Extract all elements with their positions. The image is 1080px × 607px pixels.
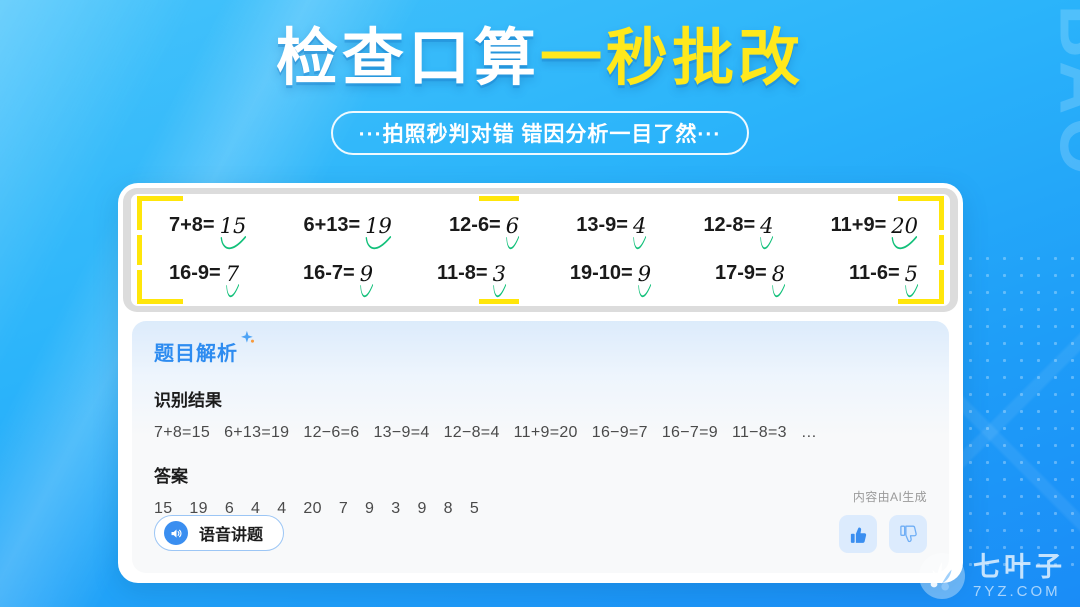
sparkle-icon [237,330,255,348]
answer-value: 9 [365,500,374,518]
handwritten-answer-wrap: 9 [360,262,373,287]
page-title: 检查口算一秒批改 [0,24,1080,93]
correct-check-icon [493,285,506,298]
handwritten-answer: 3 [493,262,506,286]
rating-controls [839,515,927,553]
subtitle-pill: ···拍照秒判对错 错因分析一目了然··· [331,111,750,155]
answer-value: 5 [470,500,479,518]
recognition-item: 11−8=3 [732,424,787,441]
problem-rows: 7+8=156+13=1912-6=613-9=412-8=411+9=2016… [155,202,932,298]
recognition-item: 12−8=4 [444,424,500,441]
bracket-bottom-right-h [898,299,944,304]
recognition-item: … [801,424,817,441]
problem-expression: 11-6= [849,262,900,285]
problem-expression: 16-7= [303,262,355,285]
bracket-bottom-right-v [939,270,944,304]
recognition-item: 6+13=19 [224,424,289,441]
thumbs-up-button[interactable] [839,515,877,553]
answer-label: 答案 [154,462,927,487]
correct-check-icon [226,285,239,298]
app-card: 7+8=156+13=1912-6=613-9=412-8=411+9=2016… [118,183,963,583]
brand-text: 七叶子 7YZ.COM [973,554,1066,599]
answer-value: 20 [303,500,321,518]
analysis-title: 题目解析 [154,337,238,366]
handwritten-answer-wrap: 8 [772,262,785,287]
problem-expression: 16-9= [169,262,221,285]
handwritten-answer: 4 [760,214,773,238]
brand-name-en: 7YZ.COM [973,584,1066,599]
problem-expression: 11+9= [831,214,887,237]
correct-check-icon [220,237,247,250]
bracket-right-middle [939,235,944,265]
problem-expression: 6+13= [303,214,360,237]
speaker-icon [164,521,188,545]
correct-check-icon [891,237,918,250]
handwritten-answer-wrap: 20 [891,214,918,239]
bracket-bottom-left-v [137,270,142,304]
thumbs-down-icon [898,524,919,545]
page-title-white: 检查口算 [276,24,540,93]
problem-item: 6+13=19 [303,214,391,239]
correct-check-icon [905,285,918,298]
problem-row: 16-9=716-7=911-8=319-10=917-9=811-6=5 [155,262,932,287]
correct-check-icon [633,237,646,250]
handwritten-answer-wrap: 19 [365,214,392,239]
problem-row: 7+8=156+13=1912-6=613-9=412-8=411+9=20 [155,214,932,239]
recognition-item: 13−9=4 [373,424,429,441]
problem-expression: 17-9= [715,262,767,285]
handwritten-answer: 19 [365,214,392,238]
problem-expression: 13-9= [576,214,628,237]
answer-value: 8 [444,500,453,518]
handwritten-answer-wrap: 4 [760,214,773,239]
problem-item: 16-9=7 [169,262,239,287]
analysis-panel: 题目解析 识别结果 7+8=156+13=1912−6=613−9=412−8=… [132,321,949,573]
recognition-item: 12−6=6 [303,424,359,441]
problem-expression: 19-10= [570,262,633,285]
handwritten-answer: 9 [360,262,373,286]
problem-item: 12-8=4 [703,214,773,239]
problem-item: 17-9=8 [715,262,785,287]
bracket-bottom-middle [479,299,519,304]
voice-explain-button[interactable]: 语音讲题 [154,515,284,551]
problem-expression: 12-8= [703,214,755,237]
voice-explain-label: 语音讲题 [199,521,263,545]
answer-value: 9 [417,500,426,518]
handwritten-answer-wrap: 6 [506,214,519,239]
answer-value: 3 [391,500,400,518]
header: 检查口算一秒批改 ···拍照秒判对错 错因分析一目了然··· [0,0,1080,155]
handwritten-answer: 7 [226,262,239,286]
handwritten-answer-wrap: 9 [638,262,651,287]
handwritten-answer: 5 [905,262,918,286]
handwritten-answer: 9 [638,262,651,286]
bracket-top-left-v [137,196,142,230]
handwritten-answer-wrap: 4 [633,214,646,239]
recognition-item: 7+8=15 [154,424,210,441]
worksheet-photo: 7+8=156+13=1912-6=613-9=412-8=411+9=2016… [131,194,950,306]
problem-item: 11-8=3 [437,262,506,287]
correct-check-icon [506,237,519,250]
thumbs-up-icon [848,524,869,545]
handwritten-answer-wrap: 5 [905,262,918,287]
bracket-top-middle [479,196,519,201]
thumbs-down-button[interactable] [889,515,927,553]
worksheet-photo-strip: 7+8=156+13=1912-6=613-9=412-8=411+9=2016… [123,188,958,312]
recognition-item: 11+9=20 [514,424,578,441]
ai-generated-note: 内容由AI生成 [853,488,927,505]
problem-expression: 12-6= [449,214,501,237]
problem-expression: 11-8= [437,262,488,285]
handwritten-answer-wrap: 3 [493,262,506,287]
handwritten-answer: 8 [772,262,785,286]
problem-item: 11+9=20 [831,214,918,239]
recognition-item: 16−7=9 [662,424,718,441]
recognition-label: 识别结果 [154,386,927,411]
bracket-top-left-h [137,196,183,201]
correct-check-icon [772,285,785,298]
page-title-yellow: 一秒批改 [540,24,804,93]
handwritten-answer: 20 [891,214,918,238]
problem-expression: 7+8= [169,214,215,237]
problem-item: 13-9=4 [576,214,646,239]
correct-check-icon [360,285,373,298]
bracket-left-middle [137,235,142,265]
correct-check-icon [638,285,651,298]
answer-value: 7 [339,500,348,518]
bracket-bottom-left-h [137,299,183,304]
problem-item: 12-6=6 [449,214,519,239]
handwritten-answer: 15 [220,214,247,238]
handwritten-answer-wrap: 7 [226,262,239,287]
answer-value: 4 [277,500,286,518]
handwritten-answer-wrap: 15 [220,214,247,239]
recognition-item: 16−9=7 [592,424,648,441]
subtitle-text: ···拍照秒判对错 错因分析一目了然··· [359,118,722,148]
brand-name-cn: 七叶子 [973,554,1066,581]
correct-check-icon [365,237,392,250]
correct-check-icon [760,237,773,250]
handwritten-answer: 4 [633,214,646,238]
problem-item: 11-6=5 [849,262,918,287]
bracket-top-right-h [898,196,944,201]
problem-item: 19-10=9 [570,262,651,287]
bracket-top-right-v [939,196,944,230]
handwritten-answer: 6 [506,214,519,238]
recognition-results: 7+8=156+13=1912−6=613−9=412−8=411+9=2016… [154,424,927,442]
analysis-title-text: 题目解析 [154,343,238,365]
problem-item: 16-7=9 [303,262,373,287]
problem-item: 7+8=15 [169,214,246,239]
